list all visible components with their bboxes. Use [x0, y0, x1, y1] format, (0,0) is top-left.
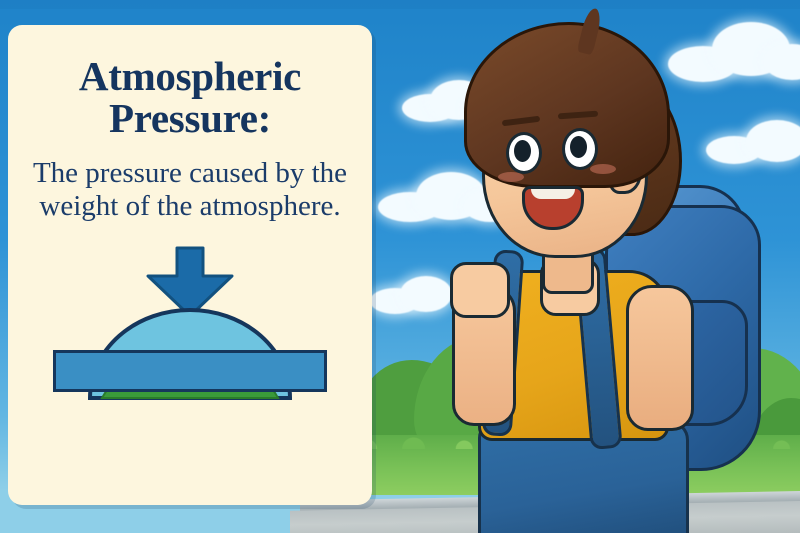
character-blush-right — [590, 164, 616, 174]
character-hand-left — [450, 262, 510, 318]
character-arm-right — [626, 285, 694, 431]
definition-card: Atmospheric Pressure: The pressure cause… — [8, 25, 372, 505]
character-pupil-right — [570, 136, 587, 158]
pressure-diagram — [30, 246, 350, 396]
illustration-canvas: Atmospheric Pressure: The pressure cause… — [0, 0, 800, 533]
character-pupil-left — [514, 140, 531, 162]
character-blush-left — [498, 172, 524, 182]
character-illustration — [430, 0, 800, 533]
card-title: Atmospheric Pressure: — [26, 55, 354, 139]
ground-bar — [53, 350, 327, 392]
card-body-text: The pressure caused by the weight of the… — [30, 157, 350, 223]
